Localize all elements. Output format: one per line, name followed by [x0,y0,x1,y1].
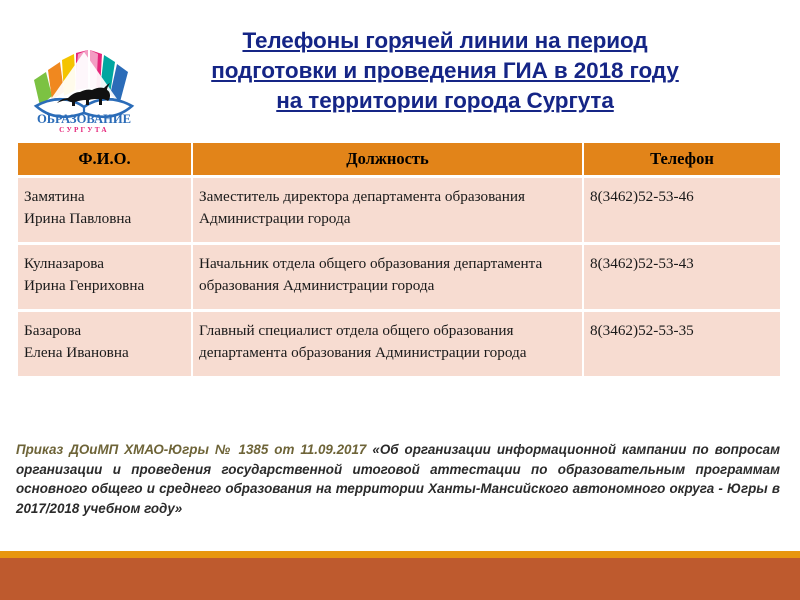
table-row: Кулназарова Ирина Генриховна Начальник о… [18,245,780,309]
hotline-table-container: Ф.И.О. Должность Телефон Замятина Ирина … [16,140,780,379]
column-header-name: Ф.И.О. [18,143,191,175]
name-line-1: Базарова [24,320,185,342]
cell-phone: 8(3462)52-53-43 [584,245,780,309]
order-reference-note: Приказ ДОиМП ХМАО-Югры № 1385 от 11.09.2… [16,440,780,518]
obrazovanie-surguta-logo: ОБРАЗОВАНИЕ СУРГУТА [22,10,147,135]
cell-name: Замятина Ирина Павловна [18,178,191,242]
logo-graphic: ОБРАЗОВАНИЕ СУРГУТА [22,10,147,135]
order-reference-highlight: Приказ ДОиМП ХМАО-Югры № 1385 от 11.09.2… [16,442,372,457]
name-line-1: Замятина [24,186,185,208]
cell-name: Базарова Елена Ивановна [18,312,191,376]
logo-wordmark-sub: СУРГУТА [59,126,109,134]
cell-name: Кулназарова Ирина Генриховна [18,245,191,309]
name-line-2: Ирина Генриховна [24,275,185,297]
table-header: Ф.И.О. Должность Телефон [18,143,780,175]
name-line-2: Елена Ивановна [24,342,185,364]
cell-position: Главный специалист отдела общего образов… [193,312,582,376]
page-title-line-2: подготовки и проведения ГИА в 2018 году [160,56,730,86]
slide-header: ОБРАЗОВАНИЕ СУРГУТА Телефоны горячей лин… [0,0,800,140]
page-title-line-1: Телефоны горячей линии на период [160,26,730,56]
logo-wordmark-main: ОБРАЗОВАНИЕ [37,112,131,126]
cell-phone: 8(3462)52-53-35 [584,312,780,376]
cell-position: Начальник отдела общего образования депа… [193,245,582,309]
footer-accent-line [0,551,800,558]
table-row: Базарова Елена Ивановна Главный специали… [18,312,780,376]
table-header-row: Ф.И.О. Должность Телефон [18,143,780,175]
footer-band [0,558,800,600]
cell-position: Заместитель директора департамента образ… [193,178,582,242]
cell-phone: 8(3462)52-53-46 [584,178,780,242]
page-title: Телефоны горячей линии на период подгото… [160,26,730,116]
column-header-position: Должность [193,143,582,175]
hotline-table: Ф.И.О. Должность Телефон Замятина Ирина … [16,140,782,379]
name-line-2: Ирина Павловна [24,208,185,230]
name-line-1: Кулназарова [24,253,185,275]
table-body: Замятина Ирина Павловна Заместитель дире… [18,178,780,376]
table-row: Замятина Ирина Павловна Заместитель дире… [18,178,780,242]
column-header-phone: Телефон [584,143,780,175]
page-title-line-3: на территории города Сургута [160,86,730,116]
